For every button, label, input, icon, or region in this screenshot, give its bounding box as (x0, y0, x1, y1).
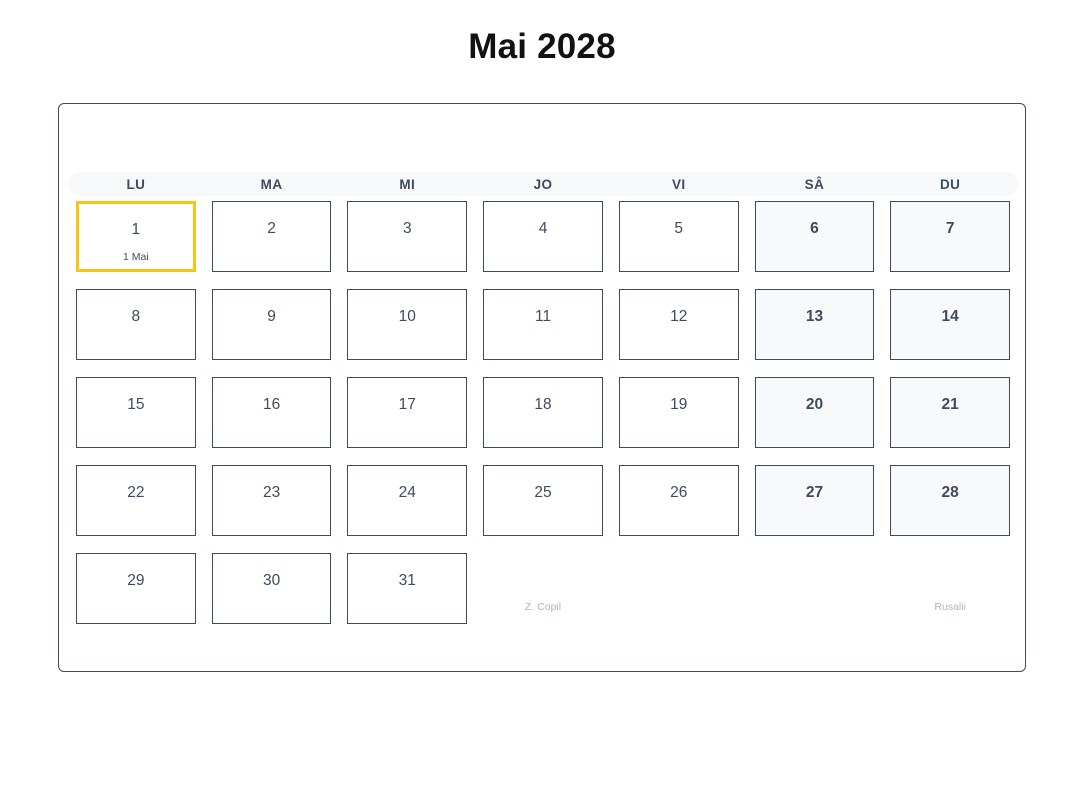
day-number: 13 (806, 309, 823, 325)
week-row: 293031Z. CopilRusalii (68, 553, 1018, 641)
weekday-header-row: LUMAMIJOVISÂDU (68, 172, 1018, 196)
day-slot: 18 (475, 377, 611, 465)
day-slot: 28 (882, 465, 1018, 553)
day-slot: 27 (747, 465, 883, 553)
day-slot: Rusalii (882, 553, 1018, 641)
day-cell-22[interactable]: 22 (76, 465, 196, 536)
day-slot: 7 (882, 201, 1018, 289)
day-cell-14[interactable]: 14 (890, 289, 1010, 360)
day-number: 27 (806, 485, 823, 501)
day-cell-8[interactable]: 8 (76, 289, 196, 360)
holiday-label: Rusalii (934, 602, 966, 613)
day-slot: 29 (68, 553, 204, 641)
day-slot: 20 (747, 377, 883, 465)
page-title: Mai 2028 (0, 0, 1084, 70)
day-cell-19[interactable]: 19 (619, 377, 739, 448)
day-cell-18[interactable]: 18 (483, 377, 603, 448)
day-cell-28[interactable]: 28 (890, 465, 1010, 536)
day-cell-30[interactable]: 30 (212, 553, 332, 624)
day-number: 8 (132, 309, 141, 325)
day-number: 11 (535, 309, 551, 325)
day-slot: 6 (747, 201, 883, 289)
day-slot: 17 (339, 377, 475, 465)
day-number: 29 (127, 573, 144, 589)
weekday-label-ma: MA (204, 177, 340, 192)
day-number: 21 (942, 397, 959, 413)
day-cell-10[interactable]: 10 (347, 289, 467, 360)
week-row: 22232425262728 (68, 465, 1018, 553)
day-cell-2[interactable]: 2 (212, 201, 332, 272)
day-number: 24 (399, 485, 416, 501)
day-cell-16[interactable]: 16 (212, 377, 332, 448)
day-slot: 12 (611, 289, 747, 377)
day-slot: 2 (204, 201, 340, 289)
day-slot: 30 (204, 553, 340, 641)
day-cell-4[interactable]: 4 (483, 201, 603, 272)
holiday-label: 1 Mai (123, 252, 149, 263)
day-slot (611, 553, 747, 641)
day-cell-5[interactable]: 5 (619, 201, 739, 272)
day-cell-3[interactable]: 3 (347, 201, 467, 272)
day-slot: 8 (68, 289, 204, 377)
day-cell-23[interactable]: 23 (212, 465, 332, 536)
day-slot: 11 (475, 289, 611, 377)
day-cell-25[interactable]: 25 (483, 465, 603, 536)
day-slot: 16 (204, 377, 340, 465)
day-slot: 9 (204, 289, 340, 377)
day-number: 19 (670, 397, 687, 413)
day-number: 28 (942, 485, 959, 501)
day-slot: 21 (882, 377, 1018, 465)
day-slot: 15 (68, 377, 204, 465)
day-number: 2 (267, 221, 276, 237)
weekday-label-du: DU (882, 177, 1018, 192)
weekday-label-vi: VI (611, 177, 747, 192)
day-slot: 13 (747, 289, 883, 377)
weekday-label-mi: MI (339, 177, 475, 192)
day-cell-17[interactable]: 17 (347, 377, 467, 448)
day-number: 10 (399, 309, 416, 325)
holiday-label: Z. Copil (525, 602, 561, 613)
day-cell-1[interactable]: 11 Mai (76, 201, 196, 272)
day-number: 7 (946, 221, 955, 237)
day-slot: 25 (475, 465, 611, 553)
day-number: 25 (534, 485, 551, 501)
day-slot: 26 (611, 465, 747, 553)
weekday-label-lu: LU (68, 177, 204, 192)
day-slot: 10 (339, 289, 475, 377)
day-slot: Z. Copil (475, 553, 611, 641)
day-cell-29[interactable]: 29 (76, 553, 196, 624)
day-slot: 4 (475, 201, 611, 289)
week-row: 11 Mai234567 (68, 201, 1018, 289)
day-number: 4 (539, 221, 548, 237)
day-cell-15[interactable]: 15 (76, 377, 196, 448)
day-cell-empty: Rusalii (890, 553, 1010, 624)
day-slot: 5 (611, 201, 747, 289)
day-number: 3 (403, 221, 412, 237)
day-cell-24[interactable]: 24 (347, 465, 467, 536)
day-slot (747, 553, 883, 641)
day-number: 31 (399, 573, 416, 589)
day-slot: 24 (339, 465, 475, 553)
day-slot: 23 (204, 465, 340, 553)
day-cell-13[interactable]: 13 (755, 289, 875, 360)
calendar-grid: 11 Mai2345678910111213141516171819202122… (68, 201, 1018, 641)
day-number: 23 (263, 485, 280, 501)
week-row: 15161718192021 (68, 377, 1018, 465)
day-number: 22 (127, 485, 144, 501)
day-number: 1 (132, 222, 141, 238)
day-number: 30 (263, 573, 280, 589)
day-slot: 22 (68, 465, 204, 553)
day-slot: 3 (339, 201, 475, 289)
day-slot: 11 Mai (68, 201, 204, 289)
day-cell-31[interactable]: 31 (347, 553, 467, 624)
day-cell-empty: Z. Copil (483, 553, 603, 624)
day-number: 17 (399, 397, 416, 413)
day-number: 16 (263, 397, 280, 413)
day-cell-26[interactable]: 26 (619, 465, 739, 536)
weekday-label-sâ: SÂ (747, 177, 883, 192)
weekday-label-jo: JO (475, 177, 611, 192)
day-number: 9 (267, 309, 276, 325)
calendar-card: LUMAMIJOVISÂDU 11 Mai2345678910111213141… (58, 103, 1026, 672)
day-cell-11[interactable]: 11 (483, 289, 603, 360)
day-number: 20 (806, 397, 823, 413)
day-number: 18 (534, 397, 551, 413)
day-cell-21[interactable]: 21 (890, 377, 1010, 448)
day-number: 12 (670, 309, 687, 325)
day-number: 26 (670, 485, 687, 501)
day-number: 5 (674, 221, 683, 237)
day-number: 14 (942, 309, 959, 325)
day-slot: 19 (611, 377, 747, 465)
day-cell-empty (755, 553, 875, 624)
day-cell-empty (619, 553, 739, 624)
day-cell-27[interactable]: 27 (755, 465, 875, 536)
day-cell-6[interactable]: 6 (755, 201, 875, 272)
day-cell-9[interactable]: 9 (212, 289, 332, 360)
day-number: 15 (127, 397, 144, 413)
day-cell-20[interactable]: 20 (755, 377, 875, 448)
week-row: 891011121314 (68, 289, 1018, 377)
day-slot: 31 (339, 553, 475, 641)
day-cell-12[interactable]: 12 (619, 289, 739, 360)
day-number: 6 (810, 221, 819, 237)
day-slot: 14 (882, 289, 1018, 377)
day-cell-7[interactable]: 7 (890, 201, 1010, 272)
